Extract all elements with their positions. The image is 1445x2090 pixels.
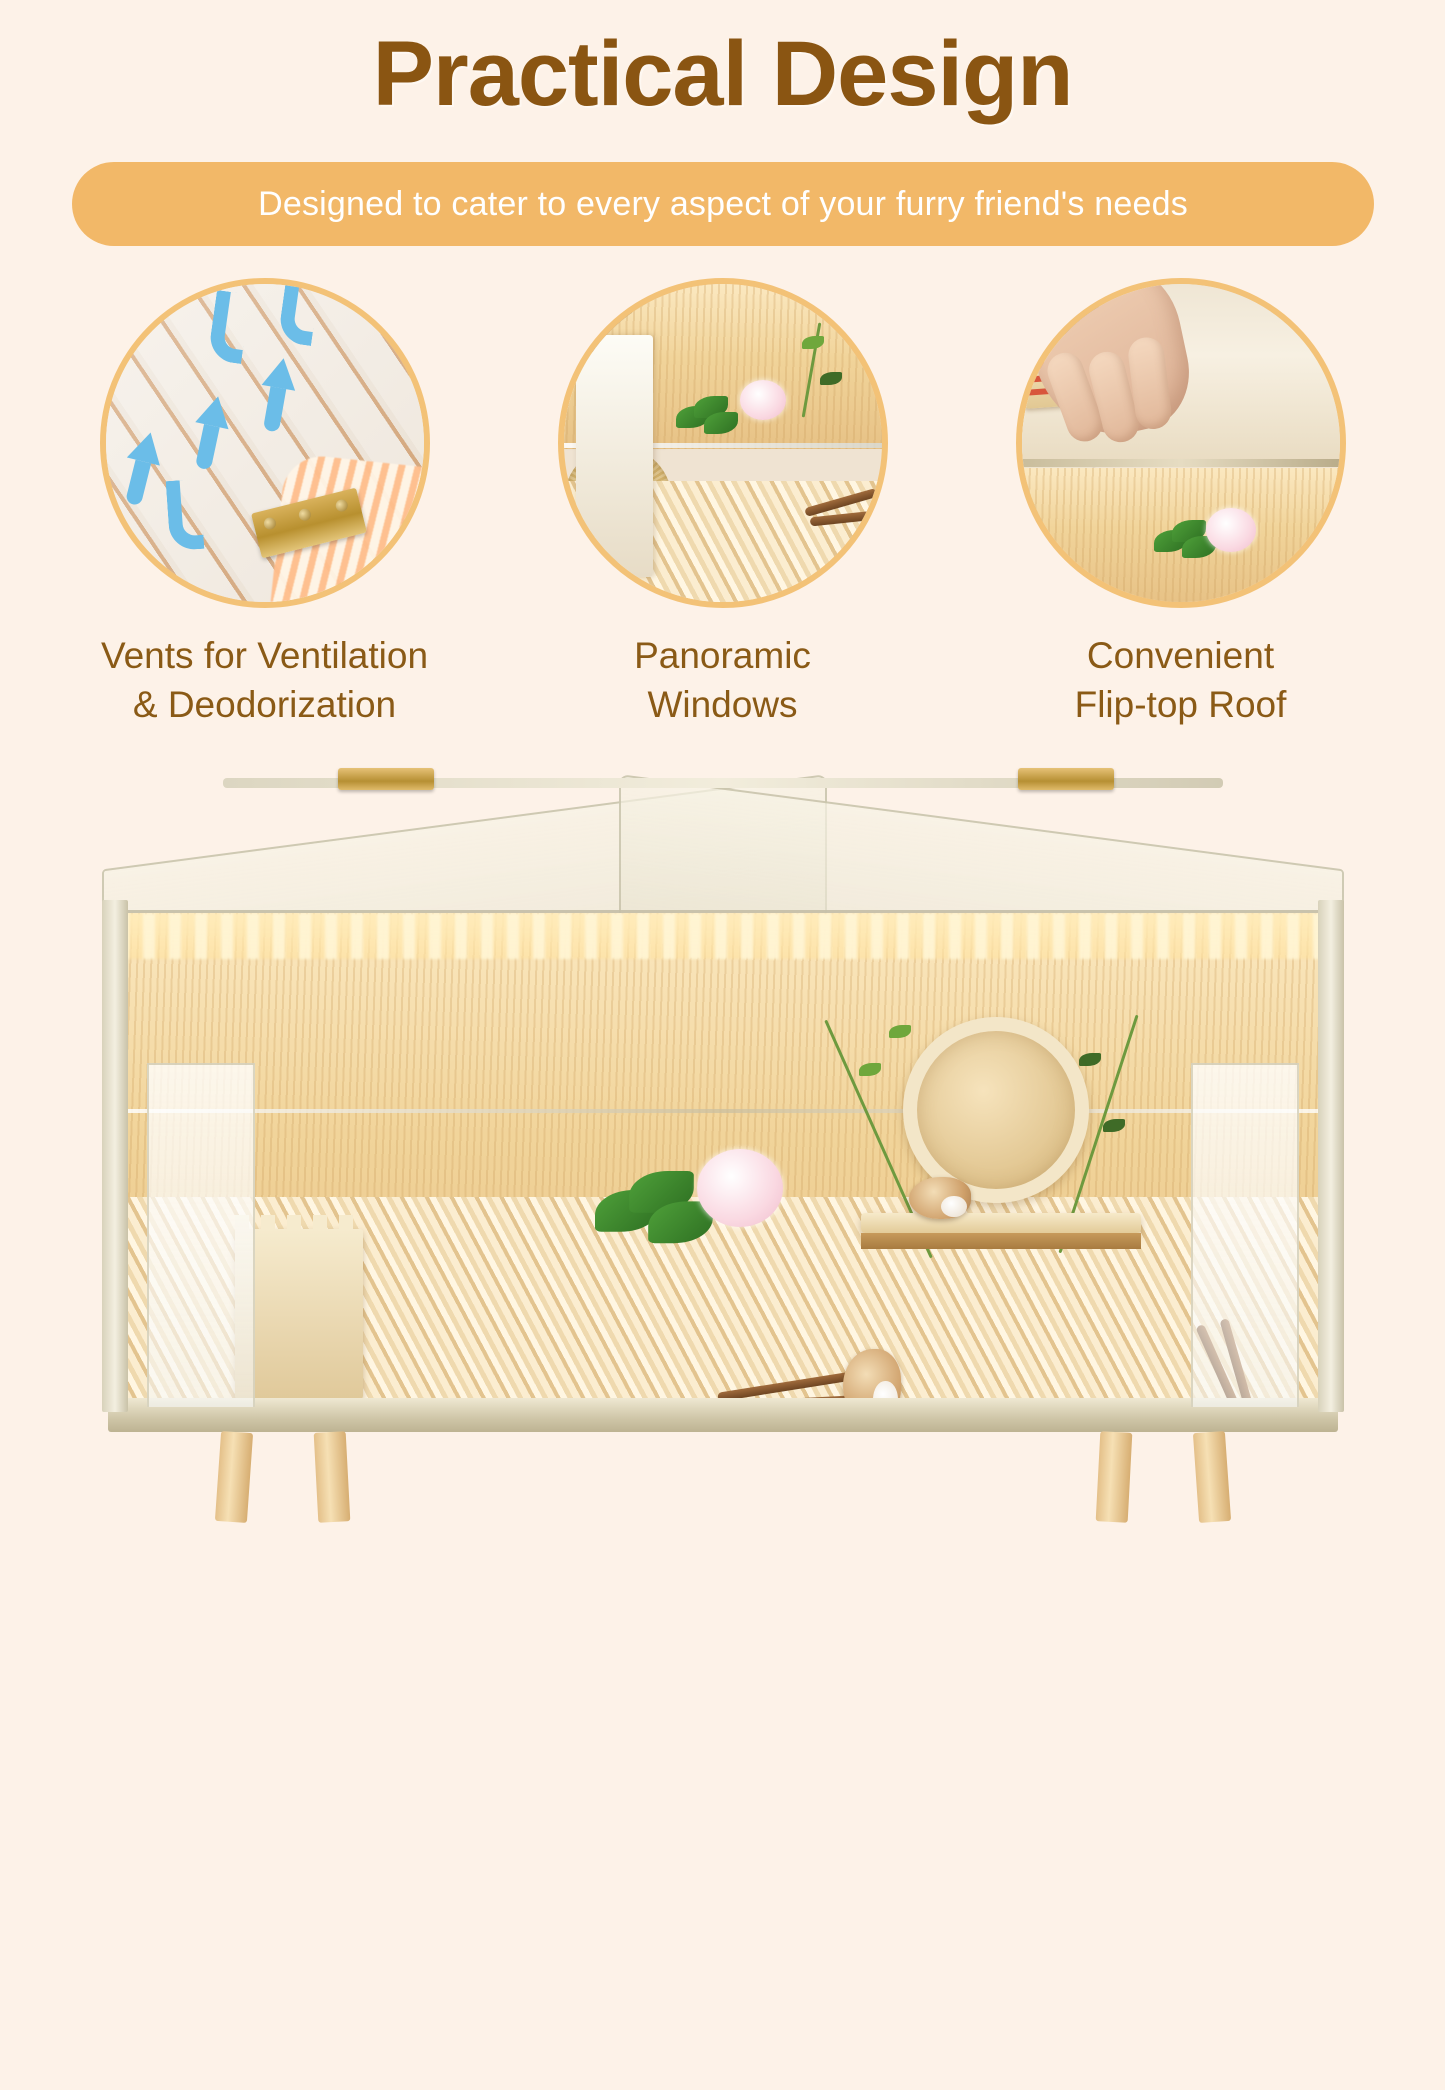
acrylic-side-panel [147, 1063, 255, 1410]
page-title: Practical Design [0, 26, 1445, 123]
airflow-arrow-icon [261, 355, 300, 390]
pink-flower [1206, 508, 1256, 552]
product-photo [0, 748, 1445, 1445]
glass-panel-edge [117, 1109, 1329, 1113]
green-plant [676, 396, 740, 442]
feature-image-ventilation [100, 278, 430, 608]
corner-post [1318, 900, 1344, 1412]
feature-panoramic-windows: Panoramic Windows [558, 278, 888, 730]
feature-caption: Convenient Flip-top Roof [1075, 632, 1287, 730]
pink-flower [740, 380, 786, 420]
subtitle-text: Designed to cater to every aspect of you… [258, 185, 1188, 224]
wooden-platform [861, 1213, 1141, 1233]
roof-hinge-icon [1018, 768, 1114, 790]
led-strip-light [117, 913, 1329, 959]
feature-caption: Vents for Ventilation & Deodorization [101, 632, 428, 730]
roof-edge [1022, 459, 1340, 467]
feature-ventilation: Vents for Ventilation & Deodorization [100, 278, 430, 730]
acrylic-side-panel [1191, 1063, 1299, 1410]
cage-base-frame [108, 1398, 1338, 1432]
pink-flower [697, 1149, 783, 1227]
feature-image-flip-top-roof [1016, 278, 1346, 608]
corner-post [102, 900, 128, 1412]
interior-divider-wall [576, 335, 652, 577]
feature-list: Vents for Ventilation & Deodorization [0, 278, 1445, 730]
feature-image-panoramic-windows [558, 278, 888, 608]
subtitle-banner: Designed to cater to every aspect of you… [72, 162, 1374, 246]
feature-caption: Panoramic Windows [634, 632, 811, 730]
exercise-wheel [903, 1017, 1089, 1203]
roof-hinge-icon [338, 768, 434, 790]
feature-flip-top-roof: Convenient Flip-top Roof [1016, 278, 1346, 730]
hamster-cage [98, 760, 1348, 2090]
cage-body [114, 910, 1332, 1410]
hamster [909, 1177, 971, 1219]
